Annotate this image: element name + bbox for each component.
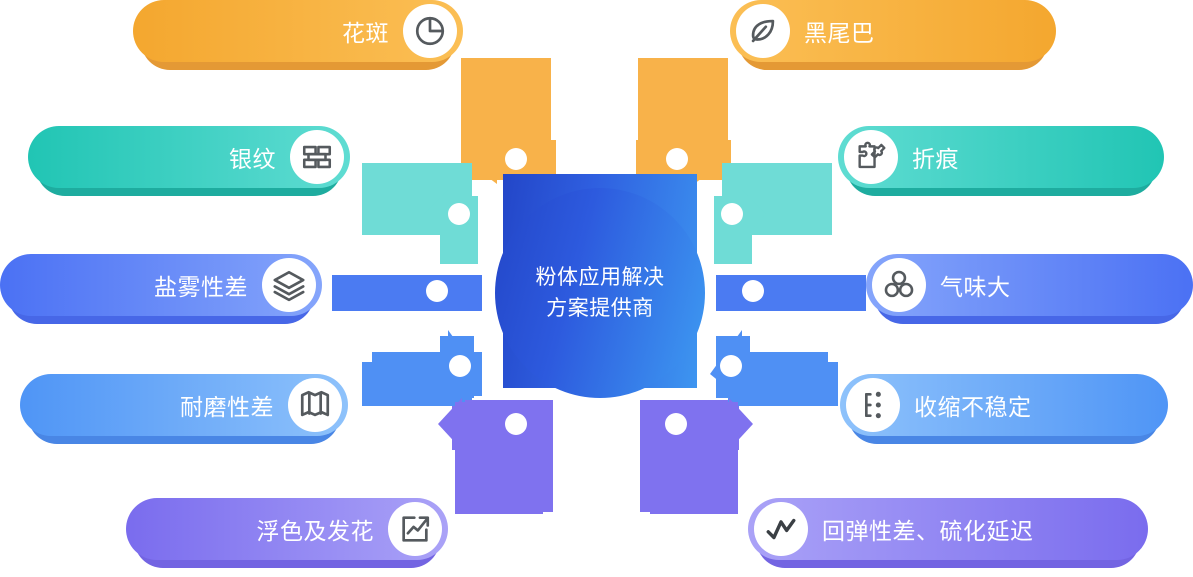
pill-body[interactable]: 耐磨性差 bbox=[20, 374, 348, 436]
connector-left-2 bbox=[362, 163, 478, 264]
pill-body[interactable]: 银纹 bbox=[28, 126, 350, 188]
node-left-1[interactable]: 花斑 bbox=[133, 0, 463, 62]
node-left-2[interactable]: 银纹 bbox=[28, 126, 350, 188]
connector-left-1 bbox=[461, 58, 556, 184]
connector-left-3 bbox=[332, 275, 482, 311]
node-label: 浮色及发花 bbox=[257, 512, 375, 546]
node-right-1[interactable]: 黑尾巴 bbox=[730, 0, 1056, 62]
node-right-3[interactable]: 气味大 bbox=[866, 254, 1193, 316]
connector-right-4 bbox=[710, 330, 838, 406]
node-left-5[interactable]: 浮色及发花 bbox=[126, 498, 448, 560]
node-label: 花斑 bbox=[342, 14, 389, 48]
connector-left-5 bbox=[438, 398, 553, 514]
layers-icon bbox=[262, 258, 316, 312]
node-right-5[interactable]: 回弹性差、硫化延迟 bbox=[748, 498, 1148, 560]
node-right-2[interactable]: 折痕 bbox=[838, 126, 1164, 188]
pie-chart-icon bbox=[403, 4, 457, 58]
center-circle: 粉体应用解决 方案提供商 bbox=[495, 188, 705, 398]
node-label: 耐磨性差 bbox=[180, 388, 274, 422]
pill-body[interactable]: 花斑 bbox=[133, 0, 463, 62]
sitemap-icon bbox=[846, 378, 900, 432]
connector-right-5 bbox=[640, 398, 753, 514]
recycle-icon bbox=[872, 258, 926, 312]
node-right-4[interactable]: 收缩不稳定 bbox=[840, 374, 1168, 436]
pill-body[interactable]: 收缩不稳定 bbox=[840, 374, 1168, 436]
line-chart-icon bbox=[754, 502, 808, 556]
trend-up-icon bbox=[388, 502, 442, 556]
node-label: 盐雾性差 bbox=[154, 268, 248, 302]
node-left-4[interactable]: 耐磨性差 bbox=[20, 374, 348, 436]
node-label: 银纹 bbox=[229, 140, 276, 174]
connector-right-1 bbox=[636, 58, 731, 184]
node-label: 收缩不稳定 bbox=[914, 388, 1032, 422]
node-left-3[interactable]: 盐雾性差 bbox=[0, 254, 322, 316]
open-book-icon bbox=[288, 378, 342, 432]
connector-right-2 bbox=[714, 163, 832, 264]
connector-left-4 bbox=[362, 330, 482, 406]
center-node[interactable]: 粉体应用解决 方案提供商 bbox=[503, 174, 697, 388]
infographic-canvas: 粉体应用解决 方案提供商 花斑 银纹 bbox=[0, 0, 1193, 577]
pill-body[interactable]: 浮色及发花 bbox=[126, 498, 448, 560]
node-label: 黑尾巴 bbox=[804, 14, 875, 48]
pill-body[interactable]: 回弹性差、硫化延迟 bbox=[748, 498, 1148, 560]
pill-body[interactable]: 盐雾性差 bbox=[0, 254, 322, 316]
node-label: 气味大 bbox=[940, 268, 1011, 302]
puzzle-icon bbox=[844, 130, 898, 184]
center-title: 粉体应用解决 方案提供商 bbox=[510, 262, 690, 324]
brick-wall-icon bbox=[290, 130, 344, 184]
pill-body[interactable]: 黑尾巴 bbox=[730, 0, 1056, 62]
connector-right-3 bbox=[716, 275, 866, 311]
node-label: 回弹性差、硫化延迟 bbox=[822, 512, 1034, 546]
node-label: 折痕 bbox=[912, 140, 959, 174]
pill-body[interactable]: 折痕 bbox=[838, 126, 1164, 188]
pill-body[interactable]: 气味大 bbox=[866, 254, 1193, 316]
leaf-icon bbox=[736, 4, 790, 58]
